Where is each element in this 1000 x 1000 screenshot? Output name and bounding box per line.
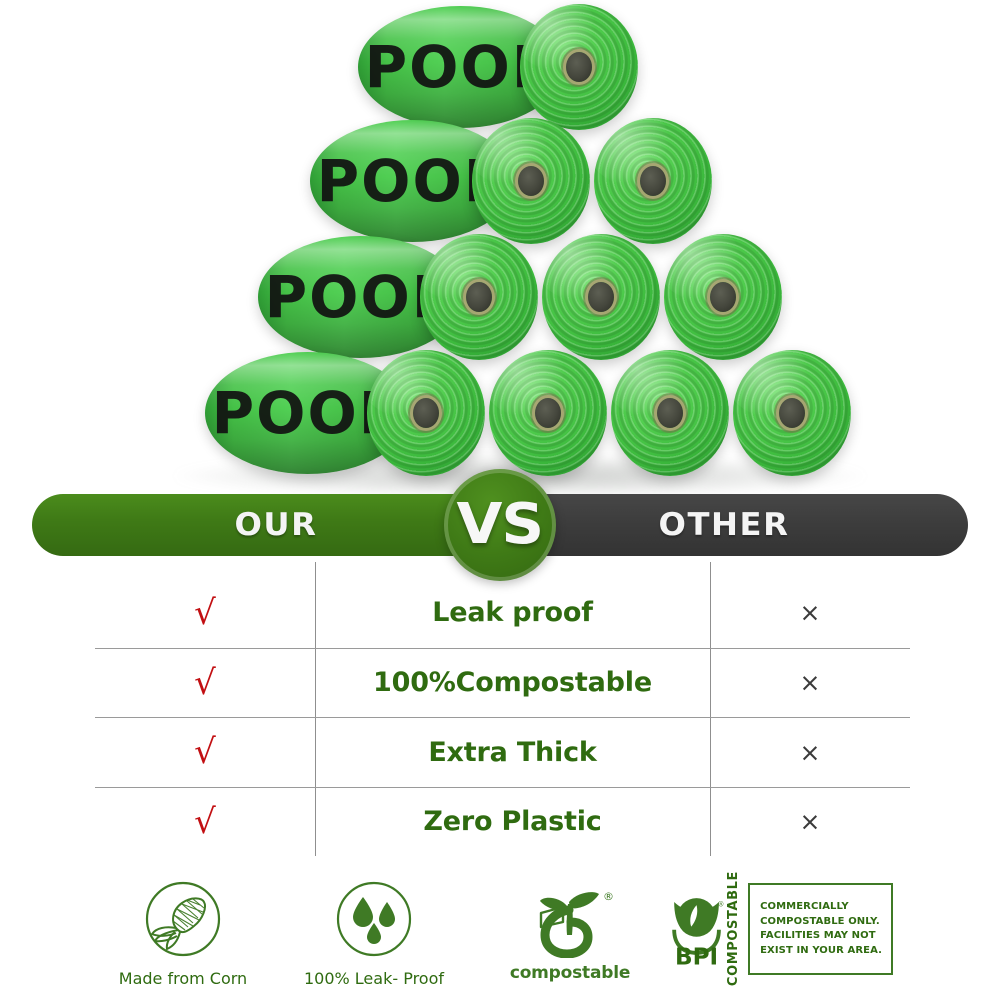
bpi-disclaimer-line: FACILITIES MAY NOT <box>760 929 882 944</box>
vs-label: VS <box>457 497 544 553</box>
corn-cob-icon <box>108 880 258 958</box>
cross-icon: × <box>800 670 821 695</box>
water-droplets-icon <box>295 880 453 958</box>
roll-core <box>535 398 561 428</box>
cell-other: × <box>710 670 910 695</box>
cert-compostable-logo: ® compostable <box>495 880 645 983</box>
roll-core <box>466 282 492 312</box>
versus-banner: OUR OTHER VS <box>32 494 968 556</box>
cell-feature: Leak proof <box>315 597 710 628</box>
bpi-disclaimer-line: COMPOSTABLE ONLY. <box>760 915 882 930</box>
cell-other: × <box>710 600 910 625</box>
feature-label: Zero Plastic <box>423 806 601 837</box>
cell-our: √ <box>95 805 315 839</box>
cert-leak-proof: 100% Leak- Proof <box>295 880 453 988</box>
roll-end-tier4-b <box>489 350 607 476</box>
comparison-table: √ Leak proof × √ 100%Compostable × √ <box>95 578 910 856</box>
bpi-badge-row: BPI ® COMPOSTABLE COMMERCIALLY COMPOSTAB… <box>668 880 893 978</box>
cert-bpi-badge: BPI ® COMPOSTABLE COMMERCIALLY COMPOSTAB… <box>668 880 893 978</box>
roll-end-tier3-c <box>664 234 782 360</box>
bpi-disclaimer-box: COMMERCIALLY COMPOSTABLE ONLY. FACILITIE… <box>748 883 893 975</box>
bpi-vertical-label: COMPOSTABLE <box>727 871 740 986</box>
roll-end-tier3-a <box>420 234 538 360</box>
certification-strip: Made from Corn 100% Leak- Proof <box>0 880 1000 1000</box>
roll-end-tier4-c <box>611 350 729 476</box>
registered-mark: ® <box>603 890 614 903</box>
feature-label: 100%Compostable <box>373 667 652 698</box>
bpi-disclaimer-line: COMMERCIALLY <box>760 900 882 915</box>
roll-core <box>588 282 614 312</box>
cert-caption: compostable <box>495 963 645 983</box>
check-icon: √ <box>194 735 216 769</box>
roll-end-tier3-b <box>542 234 660 360</box>
registered-mark: ® <box>717 901 724 909</box>
vs-badge: VS <box>444 469 556 581</box>
roll-end-tier1-a <box>520 4 638 130</box>
roll-pyramid: POOP POOP POOP <box>0 0 1000 500</box>
cell-feature: 100%Compostable <box>315 667 710 698</box>
product-hero-image: POOP POOP POOP <box>0 0 1000 500</box>
cell-feature: Zero Plastic <box>315 806 710 837</box>
roll-core <box>640 166 666 196</box>
seedling-compostable-icon: ® <box>495 880 645 958</box>
roll-core <box>779 398 805 428</box>
bpi-disclaimer-line: EXIST IN YOUR AREA. <box>760 944 882 959</box>
check-icon: √ <box>194 666 216 700</box>
cell-our: √ <box>95 596 315 630</box>
roll-end-tier4-d <box>733 350 851 476</box>
table-row: √ Extra Thick × <box>95 717 910 787</box>
feature-label: Leak proof <box>432 597 593 628</box>
table-row: √ Zero Plastic × <box>95 787 910 857</box>
product-comparison-page: POOP POOP POOP <box>0 0 1000 1000</box>
cross-icon: × <box>800 740 821 765</box>
roll-core <box>657 398 683 428</box>
roll-end-tier4-a <box>367 350 485 476</box>
roll-end-tier2-a <box>472 118 590 244</box>
bpi-logo-icon: BPI ® <box>668 880 725 978</box>
cross-icon: × <box>800 809 821 834</box>
cert-made-from-corn: Made from Corn <box>108 880 258 988</box>
roll-core <box>566 52 592 82</box>
cert-caption: Made from Corn <box>108 969 258 988</box>
roll-core <box>710 282 736 312</box>
cross-icon: × <box>800 600 821 625</box>
bpi-wordmark: BPI <box>675 944 718 970</box>
cell-other: × <box>710 740 910 765</box>
roll-core <box>413 398 439 428</box>
roll-end-tier2-b <box>594 118 712 244</box>
roll-core <box>518 166 544 196</box>
cell-our: √ <box>95 666 315 700</box>
cell-our: √ <box>95 735 315 769</box>
cert-caption: 100% Leak- Proof <box>295 969 453 988</box>
cell-feature: Extra Thick <box>315 737 710 768</box>
check-icon: √ <box>194 805 216 839</box>
table-row: √ Leak proof × <box>95 578 910 648</box>
cell-other: × <box>710 809 910 834</box>
check-icon: √ <box>194 596 216 630</box>
table-row: √ 100%Compostable × <box>95 648 910 718</box>
feature-label: Extra Thick <box>428 737 596 768</box>
